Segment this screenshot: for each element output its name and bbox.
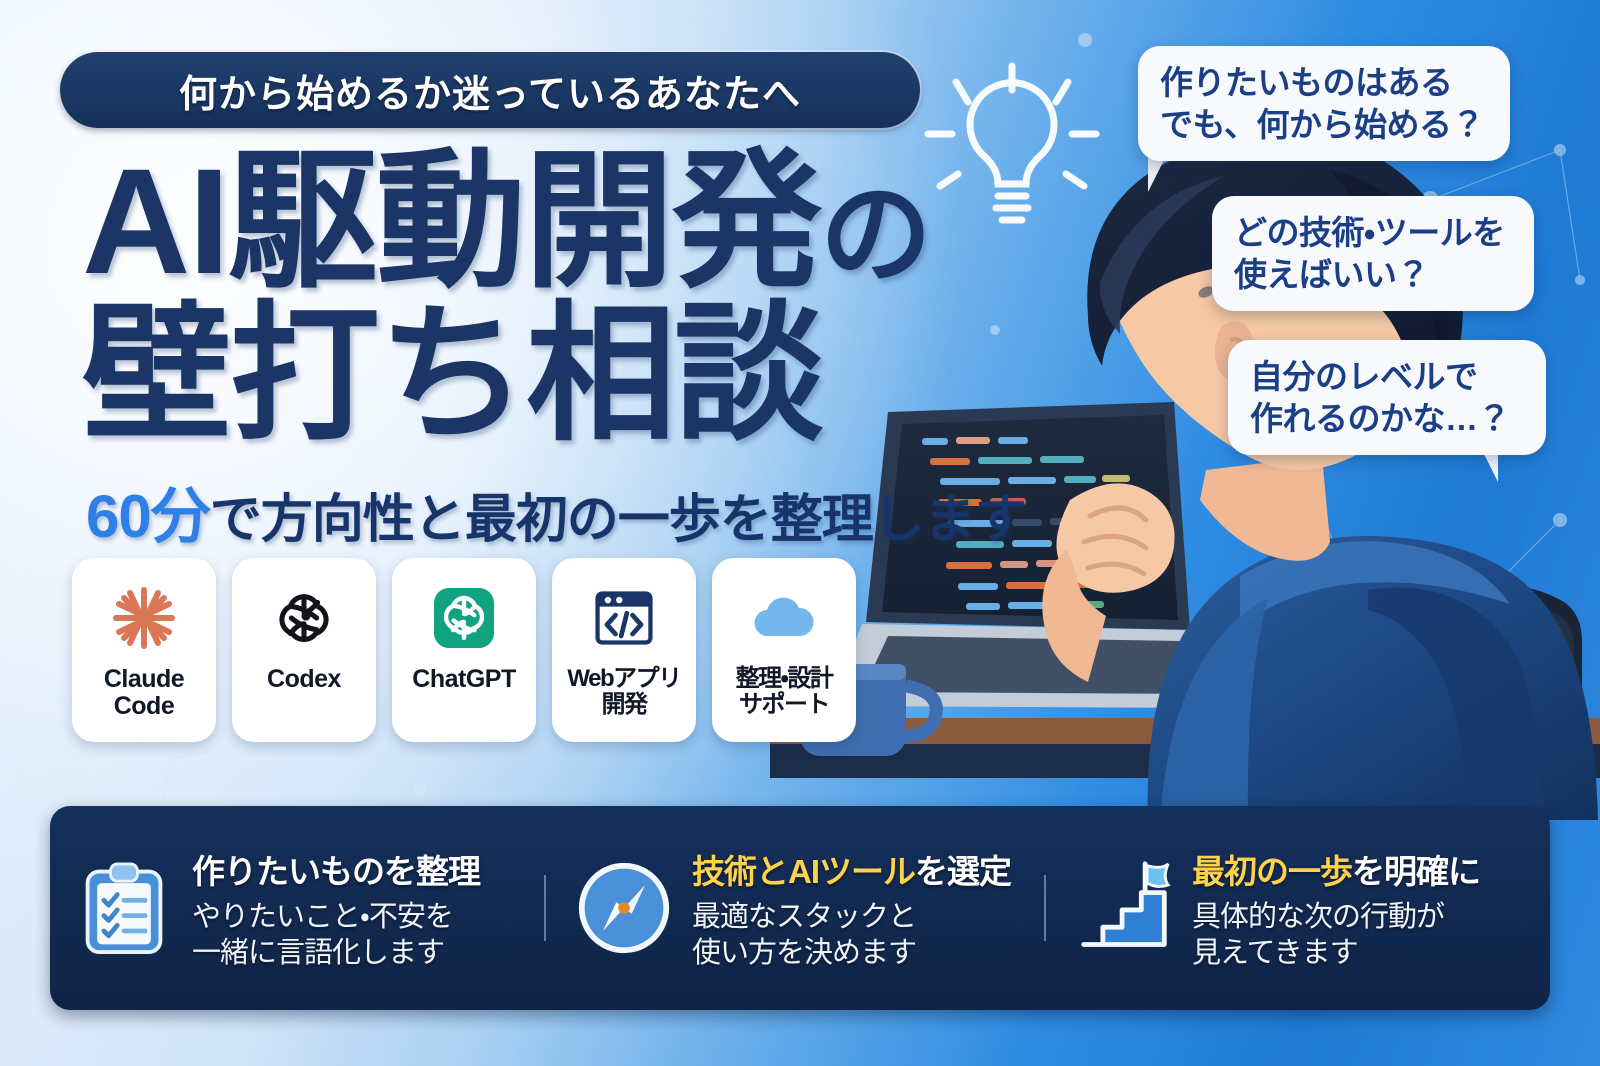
benefit-heading-white: を明確に xyxy=(1352,853,1480,890)
tool-card-web-app-dev[interactable]: Webアプリ 開発 xyxy=(552,558,696,742)
tool-card-support[interactable]: 整理・設計 サポート xyxy=(712,558,856,742)
banner-canvas: 何から始めるか迷っているあなたへ AI駆動開発の 壁打ち相談 60分で方向性と最… xyxy=(0,0,1600,1066)
benefit-text: 技術とAIツールを選定 最適なスタックと 使い方を決めます xyxy=(692,845,1011,972)
headline-line-1-main: AI駆動開発 xyxy=(82,137,820,305)
clipboard-checklist-icon xyxy=(76,858,172,958)
benefit-body-line1: 具体的な次の行動が xyxy=(1192,899,1480,935)
benefit-heading-gold: 最初の一歩 xyxy=(1192,853,1352,890)
tool-card-label: 整理・設計 サポート xyxy=(736,666,833,718)
tool-card-label: Codex xyxy=(267,666,341,693)
tool-card-label-line1: Webアプリ xyxy=(567,666,680,692)
chatgpt-green-icon xyxy=(426,580,502,656)
speech-bubble-2-line1: どの技術・ツールを xyxy=(1234,212,1512,254)
tool-card-label-line2: Code xyxy=(104,693,184,720)
speech-bubble-1-tail xyxy=(1148,156,1166,192)
speech-bubble-1-line2: でも、何から始める？ xyxy=(1160,104,1488,146)
subheading-rest: で方向性と最初の一歩を整理します xyxy=(210,491,1026,549)
benefit-heading-white: を選定 xyxy=(915,853,1011,890)
benefit-body-line2: 見えてきます xyxy=(1192,935,1480,971)
tool-card-label-line1: ChatGPT xyxy=(412,666,515,693)
tool-card-label: Claude Code xyxy=(104,666,184,720)
compass-icon xyxy=(576,858,672,958)
benefit-item-select-tools: 技術とAIツールを選定 最適なスタックと 使い方を決めます xyxy=(550,845,1050,972)
benefit-heading: 作りたいものを整理 xyxy=(192,845,480,893)
benefit-body-line1: 最適なスタックと xyxy=(692,899,1011,935)
speech-bubble-1-line1: 作りたいものはある xyxy=(1160,62,1488,104)
headline-line-1: AI駆動開発の xyxy=(82,148,982,295)
eyebrow-badge-text: 何から始めるか迷っているあなたへ xyxy=(179,63,801,118)
benefit-text: 作りたいものを整理 やりたいこと・不安を 一緒に言語化します xyxy=(192,845,480,972)
openai-knot-icon xyxy=(266,580,342,656)
subheading-accent: 60分 xyxy=(86,483,210,550)
tool-card-label-line2: サポート xyxy=(736,692,833,718)
tool-card-label-line1: 整理・設計 xyxy=(736,666,833,692)
headline-line-1-suffix: の xyxy=(820,172,930,297)
stairs-flag-icon xyxy=(1076,858,1172,958)
subheading: 60分で方向性と最初の一歩を整理します xyxy=(86,468,1026,555)
tool-card-chatgpt[interactable]: ChatGPT xyxy=(392,558,536,742)
benefit-heading: 最初の一歩を明確に xyxy=(1192,845,1480,893)
eyebrow-badge: 何から始めるか迷っているあなたへ xyxy=(60,52,920,128)
tool-card-claude-code[interactable]: Claude Code xyxy=(72,558,216,742)
tool-card-label: ChatGPT xyxy=(412,666,515,693)
tool-card-codex[interactable]: Codex xyxy=(232,558,376,742)
tool-card-label-line1: Claude xyxy=(104,666,184,693)
headline-line-2: 壁打ち相談 xyxy=(82,301,982,448)
tool-card-label: Webアプリ 開発 xyxy=(567,666,680,718)
benefit-text: 最初の一歩を明確に 具体的な次の行動が 見えてきます xyxy=(1192,845,1480,972)
benefit-body-line1: やりたいこと・不安を xyxy=(192,899,480,935)
page-title: AI駆動開発の 壁打ち相談 xyxy=(82,148,982,448)
tool-card-label-line2: 開発 xyxy=(567,692,680,718)
cloud-icon xyxy=(746,580,822,656)
speech-bubble-3-line1: 自分のレベルで xyxy=(1250,356,1524,398)
benefit-divider-1 xyxy=(544,875,546,942)
claude-starburst-icon xyxy=(106,580,182,656)
code-window-icon xyxy=(586,580,662,656)
speech-bubble-2-line2: 使えばいい？ xyxy=(1234,254,1512,296)
benefit-item-first-step: 最初の一歩を明確に 具体的な次の行動が 見えてきます xyxy=(1050,845,1550,972)
benefit-item-organize: 作りたいものを整理 やりたいこと・不安を 一緒に言語化します xyxy=(50,845,550,972)
tool-card-list: Claude Code Codex xyxy=(72,558,856,742)
benefit-divider-2 xyxy=(1044,875,1046,942)
benefit-heading-gold: 技術とAIツール xyxy=(692,853,915,890)
benefits-bar: 作りたいものを整理 やりたいこと・不安を 一緒に言語化します 技術とAIツールを… xyxy=(50,806,1550,1010)
speech-bubble-3-line2: 作れるのかな…？ xyxy=(1250,398,1524,440)
benefit-heading-white: 作りたいものを整理 xyxy=(192,853,480,890)
benefit-body-line2: 使い方を決めます xyxy=(692,935,1011,971)
speech-bubble-1: 作りたいものはある でも、何から始める？ xyxy=(1138,46,1510,161)
speech-bubble-3: 自分のレベルで 作れるのかな…？ xyxy=(1228,340,1546,455)
benefit-heading: 技術とAIツールを選定 xyxy=(692,845,1011,893)
benefit-body-line2: 一緒に言語化します xyxy=(192,935,480,971)
speech-bubble-2: どの技術・ツールを 使えばいい？ xyxy=(1212,196,1534,311)
tool-card-label-line1: Codex xyxy=(267,666,341,693)
